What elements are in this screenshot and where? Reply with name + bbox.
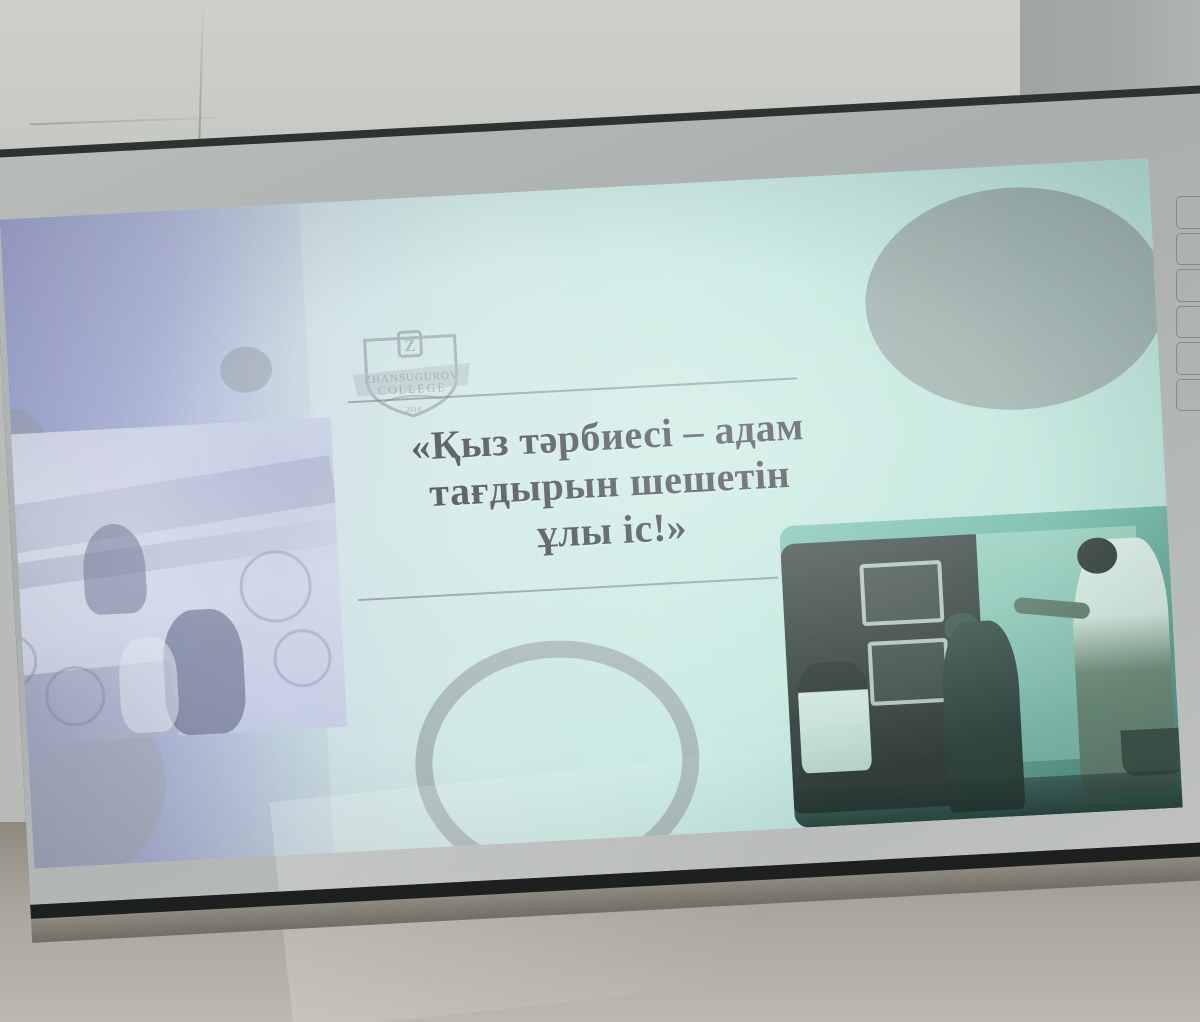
zhansugurov-college-logo-icon: Z ZHANSUGUROV COLLEGE 2018: [346, 323, 477, 424]
switch-button-4[interactable]: [1176, 306, 1200, 339]
divider-bottom: [358, 577, 778, 601]
photo-left-figure-2: [81, 522, 148, 615]
logo-line2-text: COLLEGE: [378, 380, 447, 398]
projector-screen-frame: Z ZHANSUGUROV COLLEGE 2018 «Қыз тәрбиесі…: [0, 85, 1200, 909]
svg-text:Z: Z: [404, 336, 416, 356]
ring-outline-center-icon: [409, 633, 705, 868]
photo-left-figure-4: [117, 636, 180, 734]
switch-button-3[interactable]: [1176, 269, 1200, 302]
switch-button-5[interactable]: [1176, 342, 1200, 375]
presentation-slide: Z ZHANSUGUROV COLLEGE 2018 «Қыз тәрбиесі…: [0, 158, 1183, 868]
photo-family-right: [779, 505, 1183, 828]
slide-title: «Қыз тәрбиесі – адам тағдырын шешетін ұл…: [341, 399, 878, 569]
projector-screen-surface: Z ZHANSUGUROV COLLEGE 2018 «Қыз тәрбиесі…: [0, 93, 1200, 905]
photo-left-ornament-5: [272, 628, 333, 689]
photo-right-child-figure: [796, 660, 872, 774]
photo-left-ornament-4: [238, 549, 314, 625]
photo-scene: Z ZHANSUGUROV COLLEGE 2018 «Қыз тәрбиесі…: [0, 0, 1200, 1022]
photo-right-ornament-tile-2: [867, 638, 950, 706]
wall-crack-horizontal: [30, 117, 220, 126]
logo-year-text: 2018: [405, 404, 421, 414]
ellipse-large-top-right-icon: [860, 180, 1171, 418]
switch-button-6[interactable]: [1176, 379, 1200, 412]
photo-yurt-interior-left: [0, 417, 347, 749]
switch-button-1[interactable]: [1176, 196, 1200, 229]
photo-right-ornament-tile-1: [859, 560, 944, 626]
wall-crack-vertical: [198, 0, 204, 160]
switch-button-2[interactable]: [1176, 233, 1200, 266]
light-switch-panel[interactable]: [1176, 196, 1200, 411]
